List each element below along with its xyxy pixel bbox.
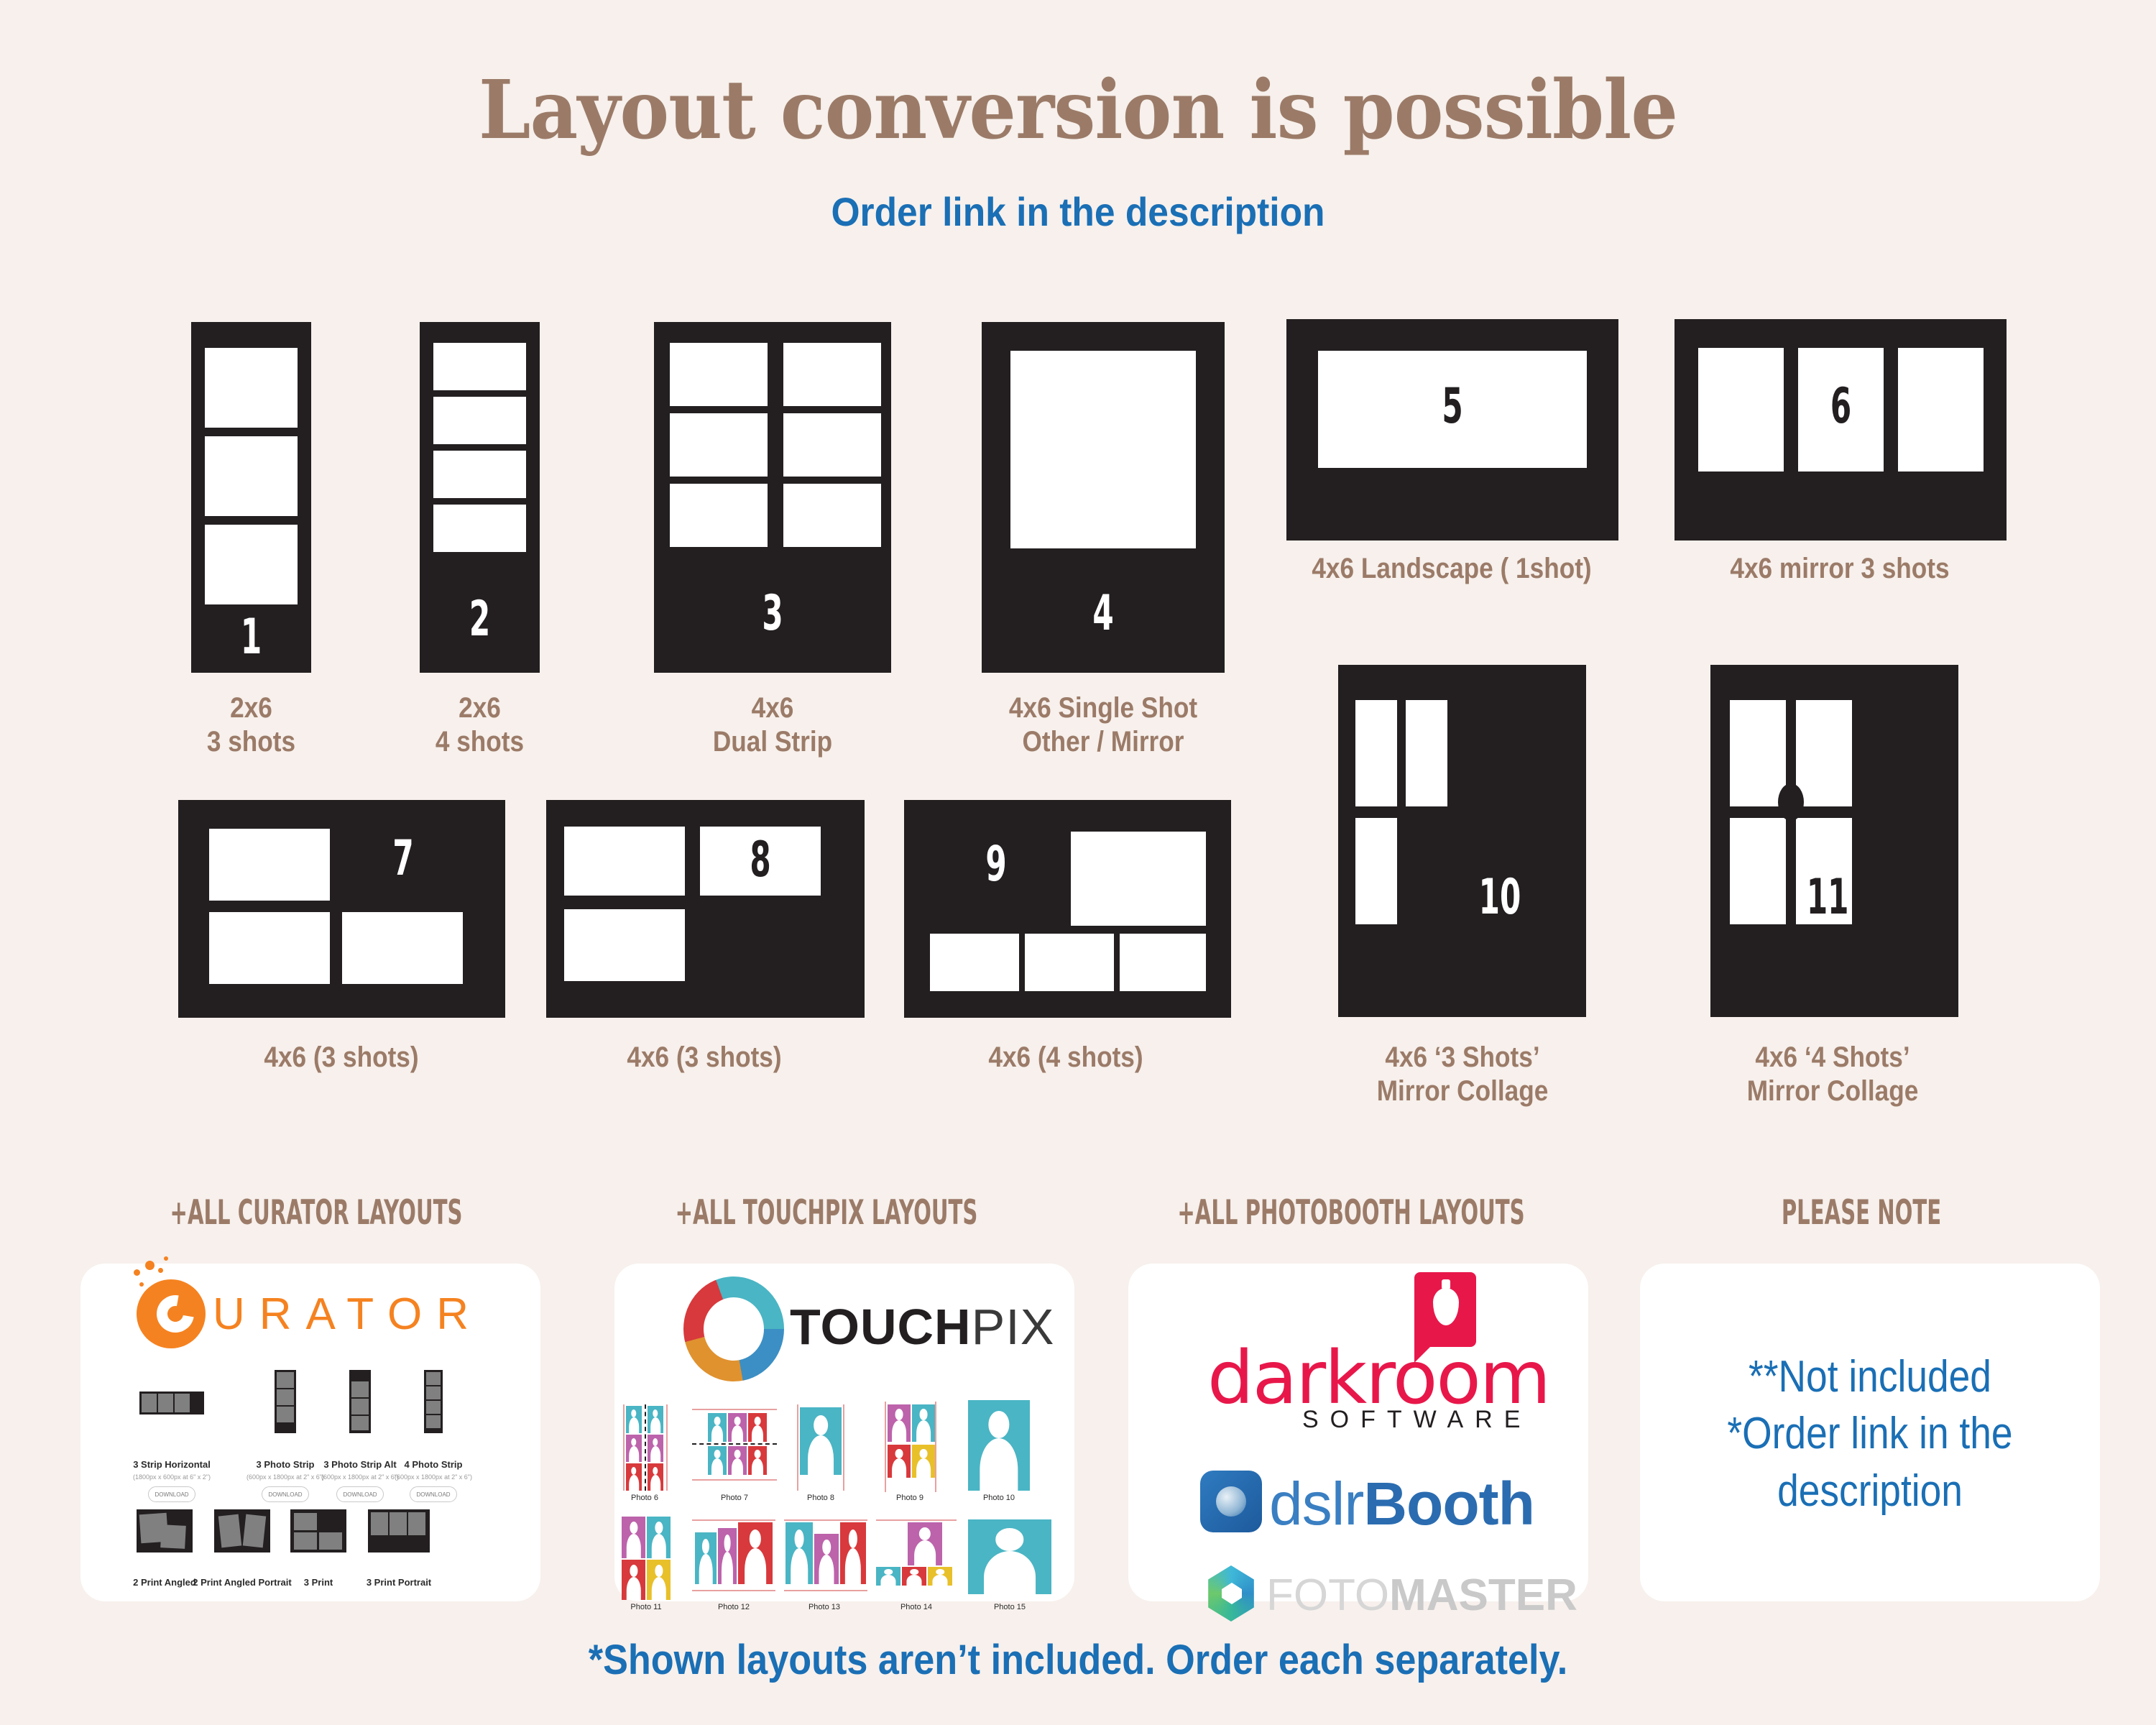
card-photobooth: darkroom SOFTWARE dslrBooth FOTOMASTER <box>1128 1264 1588 1601</box>
curator-thumb[interactable] <box>214 1509 270 1552</box>
layout-tile-6[interactable]: 6 <box>1674 319 2007 540</box>
curator-download-button[interactable]: DOWNLOAD <box>336 1486 384 1502</box>
layout-number: 1 <box>214 613 289 662</box>
curator-wordmark: URATOR <box>213 1289 483 1340</box>
layout-tile-7[interactable]: 7 <box>178 800 505 1018</box>
photo-slot <box>433 397 526 444</box>
layout-tile-10[interactable]: 10 <box>1338 665 1586 1017</box>
poster-root: Layout conversion is possible Order link… <box>0 0 2156 1725</box>
touchpix-ring-icon <box>683 1276 784 1381</box>
touchpix-thumb[interactable] <box>968 1519 1051 1594</box>
photo-slot <box>930 934 1019 991</box>
darkroom-software-label: SOFTWARE <box>1302 1406 1531 1434</box>
layout-tile-9[interactable]: 9 <box>904 800 1231 1018</box>
layout-caption-11: 4x6 ‘4 Shots’ Mirror Collage <box>1700 1041 1966 1108</box>
layout-tile-11[interactable]: 11 <box>1710 665 1958 1017</box>
photo-slot <box>1010 351 1196 548</box>
layout-number: 5 <box>1350 382 1555 431</box>
photo-slot <box>205 525 298 604</box>
fotomaster-wordmark: FOTOMASTER <box>1266 1570 1577 1621</box>
curator-item-size: (1800px x 600px at 6" x 2") <box>118 1473 226 1481</box>
touchpix-caption: Photo 10 <box>968 1494 1030 1502</box>
curator-thumb[interactable] <box>139 1391 204 1414</box>
layout-tile-3[interactable]: 3 <box>654 322 891 673</box>
curator-thumb[interactable] <box>137 1509 193 1552</box>
dslrbooth-camera-icon <box>1200 1471 1262 1532</box>
photo-slot <box>670 484 768 547</box>
touchpix-thumb[interactable] <box>622 1517 671 1600</box>
dslrbooth-wordmark: dslrBooth <box>1269 1469 1534 1539</box>
layout-number: 6 <box>1815 382 1868 431</box>
photo-slot <box>564 909 685 981</box>
touchpix-caption: Photo 8 <box>794 1494 847 1502</box>
section-heading-photobooth: +ALL PHOTOBOOTH LAYOUTS <box>1155 1193 1547 1233</box>
layout-caption-8: 4x6 (3 shots) <box>562 1041 847 1075</box>
photo-slot <box>1730 818 1786 924</box>
layout-caption-2: 2x6 4 shots <box>402 691 558 759</box>
touchpix-thumb[interactable] <box>692 1519 775 1594</box>
photo-slot <box>1355 818 1397 924</box>
layout-tile-1[interactable]: 1 <box>191 322 311 673</box>
touchpix-thumb[interactable] <box>692 1407 777 1482</box>
layout-number: 2 <box>443 595 517 644</box>
page-subtitle: Order link in the description <box>86 188 2070 235</box>
card-touchpix: TOUCHPIX Photo 6 Photo 7 <box>614 1264 1074 1601</box>
card-please-note: **Not included *Order link in the descri… <box>1640 1264 2100 1601</box>
curator-download-button[interactable]: DOWNLOAD <box>148 1486 195 1502</box>
touchpix-thumb[interactable] <box>619 1404 671 1491</box>
photo-slot <box>1406 700 1447 806</box>
footer-disclaimer: *Shown layouts aren’t included. Order ea… <box>108 1636 2048 1684</box>
section-heading-please-note: PLEASE NOTE <box>1665 1193 2058 1233</box>
layout-caption-7: 4x6 (3 shots) <box>199 1041 484 1075</box>
curator-thumb[interactable] <box>275 1370 296 1433</box>
photo-slot <box>433 451 526 498</box>
touchpix-caption: Photo 7 <box>694 1494 775 1502</box>
photo-slot <box>205 348 298 428</box>
layout-number: 3 <box>699 589 847 638</box>
photo-slot <box>1796 700 1852 806</box>
touchpix-caption: Photo 14 <box>876 1603 957 1611</box>
curator-item-label: 3 Strip Horizontal <box>118 1459 226 1470</box>
photo-slot <box>209 912 330 984</box>
touchpix-caption: Photo 9 <box>880 1494 939 1502</box>
curator-thumb[interactable] <box>290 1509 346 1552</box>
photo-slot <box>670 343 768 406</box>
page-title: Layout conversion is possible <box>86 63 2070 157</box>
photo-slot <box>670 413 768 477</box>
layout-number: 10 <box>1467 873 1534 922</box>
photo-slot <box>433 505 526 552</box>
please-note-text: **Not included *Order link in the descri… <box>1672 1348 2068 1519</box>
layout-number: 11 <box>1807 873 1841 922</box>
touchpix-thumb[interactable] <box>784 1519 867 1594</box>
curator-download-button[interactable]: DOWNLOAD <box>410 1486 457 1502</box>
touchpix-thumb[interactable] <box>876 1519 957 1594</box>
fotomaster-shutter-icon <box>1204 1565 1258 1621</box>
touchpix-caption: Photo 13 <box>784 1603 865 1611</box>
photo-slot <box>209 829 330 901</box>
layout-number: 8 <box>723 836 798 885</box>
touchpix-wordmark: TOUCHPIX <box>790 1298 1054 1356</box>
photo-slot <box>1698 348 1784 471</box>
curator-logo: URATOR <box>137 1279 483 1348</box>
lightbulb-icon <box>1433 1288 1459 1325</box>
section-heading-touchpix: +ALL TOUCHPIX LAYOUTS <box>630 1193 1023 1233</box>
photo-slot <box>783 413 881 477</box>
layout-caption-10: 4x6 ‘3 Shots’ Mirror Collage <box>1333 1041 1593 1108</box>
card-curator: URATOR 3 Strip Horizontal 3 Photo Strip … <box>80 1264 540 1601</box>
layout-number: 4 <box>1028 589 1179 638</box>
section-heading-curator: +ALL CURATOR LAYOUTS <box>120 1193 512 1233</box>
touchpix-caption: Photo 11 <box>619 1603 673 1611</box>
touchpix-caption: Photo 12 <box>694 1603 774 1611</box>
photo-slot <box>783 484 881 547</box>
layout-number: 7 <box>374 834 433 883</box>
curator-thumb[interactable] <box>368 1509 430 1552</box>
touchpix-caption: Photo 6 <box>617 1494 672 1502</box>
photo-slot <box>1898 348 1984 471</box>
photo-slot <box>342 912 463 984</box>
photo-slot <box>1120 934 1206 991</box>
photo-slot <box>1071 832 1206 926</box>
curator-thumb[interactable] <box>424 1370 443 1433</box>
touchpix-thumb[interactable] <box>883 1402 938 1492</box>
layout-caption-4: 4x6 Single Shot Other / Mirror <box>999 691 1207 759</box>
layout-number: 9 <box>969 840 1023 889</box>
layout-caption-1: 2x6 3 shots <box>173 691 329 759</box>
layout-caption-9: 4x6 (4 shots) <box>923 1041 1208 1075</box>
curator-c-icon <box>137 1279 206 1348</box>
layout-caption-3: 4x6 Dual Strip <box>694 691 852 759</box>
photo-slot <box>433 343 526 390</box>
touchpix-thumb[interactable] <box>968 1400 1030 1491</box>
curator-item-label: 3 Print Portrait <box>345 1577 453 1588</box>
photo-slot <box>783 343 881 406</box>
touchpix-caption: Photo 15 <box>968 1603 1051 1611</box>
curator-item-label: 4 Photo Strip <box>379 1459 487 1470</box>
layout-tile-8[interactable]: 8 <box>546 800 865 1018</box>
photo-slot <box>1025 934 1114 991</box>
photo-slot <box>1355 700 1397 806</box>
center-dot-decoration <box>1778 783 1804 821</box>
layout-caption-6: 4x6 mirror 3 shots <box>1663 552 2017 586</box>
photo-slot <box>1730 700 1786 806</box>
curator-thumb[interactable] <box>349 1370 371 1433</box>
curator-item-size: (600px x 1800px at 2" x 6") <box>379 1473 487 1481</box>
layout-tile-4[interactable]: 4 <box>982 322 1225 673</box>
curator-download-button[interactable]: DOWNLOAD <box>262 1486 309 1502</box>
photo-slot <box>205 436 298 516</box>
touchpix-thumb[interactable] <box>796 1404 846 1491</box>
photo-slot <box>564 827 685 896</box>
layout-caption-5: 4x6 Landscape ( 1shot) <box>1275 552 1629 586</box>
layout-tile-5[interactable]: 5 <box>1286 319 1618 540</box>
layout-tile-2[interactable]: 2 <box>420 322 540 673</box>
